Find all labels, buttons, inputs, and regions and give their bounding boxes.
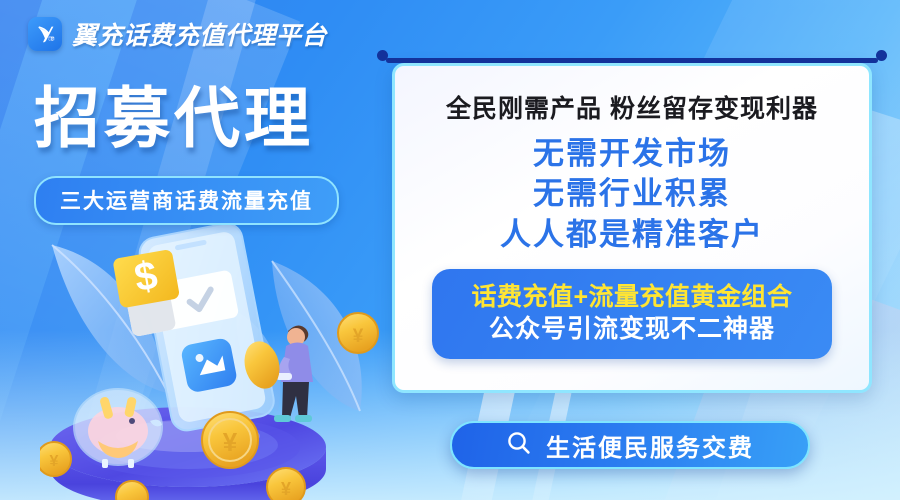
svg-text:翼充: 翼充 — [47, 36, 55, 41]
panel-lead-text: 全民刚需产品 粉丝留存变现利器 — [414, 89, 850, 125]
mobile-recharge-illustration: $ — [40, 215, 390, 500]
panel-corner-dot — [377, 50, 388, 61]
benefit-item: 无需行业积累 — [414, 174, 850, 214]
service-payment-button-label: 生活便民服务交费 — [546, 428, 754, 463]
wing-bird-logo-icon: 翼充 — [28, 17, 62, 51]
panel-corner-dot — [876, 50, 887, 61]
coin: ¥ — [338, 313, 378, 353]
service-payment-button[interactable]: 生活便民服务交费 — [450, 421, 810, 469]
promo-banner: 翼充 翼充话费充值代理平台 招募代理 三大运营商话费流量充值 — [0, 0, 900, 500]
benefits-panel: 全民刚需产品 粉丝留存变现利器 无需开发市场 无需行业积累 人人都是精准客户 话… — [392, 63, 872, 393]
svg-text:¥: ¥ — [223, 427, 238, 457]
svg-text:¥: ¥ — [281, 479, 291, 499]
highlight-box: 话费充值+流量充值黄金组合 公众号引流变现不二神器 — [432, 269, 832, 359]
svg-text:¥: ¥ — [50, 453, 59, 470]
highlight-line-2: 公众号引流变现不二神器 — [442, 313, 822, 346]
banner-header: 翼充 翼充话费充值代理平台 — [28, 16, 327, 52]
coin: ¥ — [40, 442, 71, 476]
benefit-item: 人人都是精准客户 — [414, 215, 850, 255]
coin: ¥ — [267, 468, 305, 500]
coin: ¥ — [202, 412, 258, 468]
hero-subtitle-badge: 三大运营商话费流量充值 — [34, 176, 339, 225]
app-icon — [180, 337, 238, 394]
dollar-card: $ — [112, 249, 180, 309]
svg-text:¥: ¥ — [353, 326, 364, 347]
benefit-list: 无需开发市场 无需行业积累 人人都是精准客户 — [414, 134, 850, 255]
highlight-line-1: 话费充值+流量充值黄金组合 — [442, 281, 822, 314]
page-title: 招募代理 — [34, 84, 314, 153]
search-icon — [506, 430, 532, 461]
benefit-item: 无需开发市场 — [414, 134, 850, 174]
app-title: 翼充话费充值代理平台 — [72, 16, 327, 52]
